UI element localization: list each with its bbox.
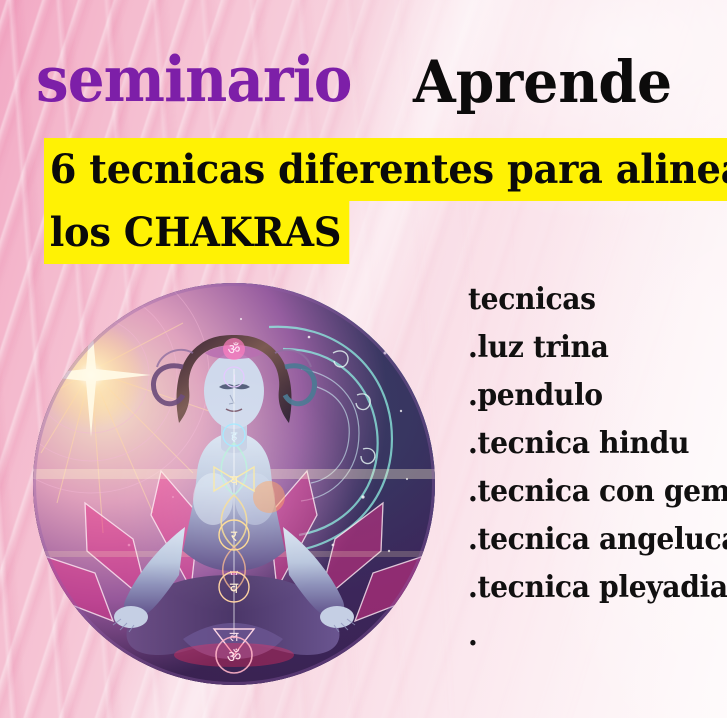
headline: seminario Aprende xyxy=(36,34,676,110)
svg-text:ॐ: ॐ xyxy=(228,342,241,358)
technique-item-6: .tecnica pleyadiana xyxy=(468,564,703,612)
technique-item-2: .pendulo xyxy=(468,372,703,420)
technique-item-4: .tecnica con gemas xyxy=(468,468,703,516)
chakra-artwork-svg: ॐ । ह य र व xyxy=(33,283,435,685)
technique-item-1: .luz trina xyxy=(468,324,703,372)
subtitle-line-1: 6 tecnicas diferentes para alinear xyxy=(44,138,727,201)
subtitle-line-2: los CHAKRAS xyxy=(44,201,349,264)
headline-word-aprende: Aprende xyxy=(413,55,672,110)
headline-word-seminario: seminario xyxy=(36,50,351,110)
techniques-heading: tecnicas xyxy=(468,276,703,324)
technique-item-5: .tecnica angelucal xyxy=(468,516,703,564)
techniques-list: tecnicas .luz trina .pendulo .tecnica hi… xyxy=(468,276,718,660)
technique-item-3: .tecnica hindu xyxy=(468,420,703,468)
subtitle-block: 6 tecnicas diferentes para alinear los C… xyxy=(44,138,644,264)
poster-canvas: seminario Aprende 6 tecnicas diferentes … xyxy=(0,0,727,718)
technique-item-7: . xyxy=(468,612,703,660)
svg-text:ॐ: ॐ xyxy=(227,648,242,666)
chakra-meditation-image: ॐ । ह य र व xyxy=(33,283,435,685)
